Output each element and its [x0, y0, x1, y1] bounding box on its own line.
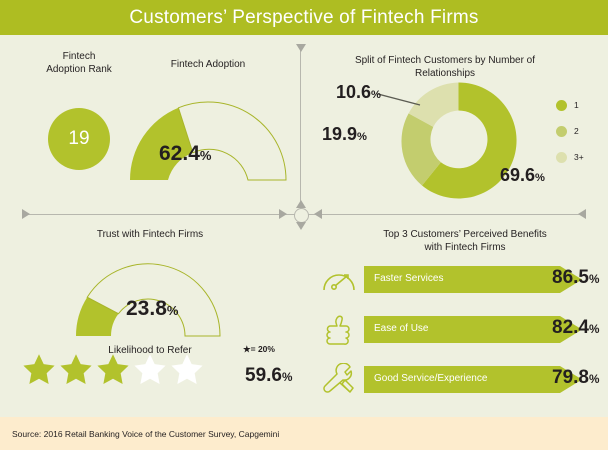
benefit-label-3: Good Service/Experience — [374, 373, 487, 384]
center-arrow-down-icon — [296, 222, 306, 230]
adoption-gauge-track — [178, 102, 286, 180]
donut-label-1: 69.6% — [500, 165, 545, 186]
divider-arrow-right-icon — [578, 209, 586, 219]
star-empty-4-icon — [133, 352, 167, 386]
donut-label-3plus: 10.6% — [336, 82, 381, 103]
benefit-value-3: 79.8% — [552, 367, 599, 389]
divider-arrow-left-icon — [22, 209, 30, 219]
star-legend-note: ★= 20% — [243, 344, 275, 355]
wrench-icon — [320, 363, 360, 397]
center-arrow-left-icon — [279, 209, 287, 219]
donut-label-2: 19.9% — [322, 124, 367, 145]
donut-leader-line — [378, 92, 423, 108]
adoption-heading: Fintech Adoption — [128, 58, 288, 71]
legend-swatch-3-icon — [556, 152, 567, 163]
refer-star-rating — [22, 352, 207, 386]
trust-heading: Trust with Fintech Firms — [70, 228, 230, 241]
infographic-canvas: Customers’ Perspective of Fintech Firms … — [0, 0, 608, 450]
source-note: Source: 2016 Retail Banking Voice of the… — [0, 429, 279, 439]
rank-heading-line1: Fintech — [29, 50, 129, 63]
title-bar: Customers’ Perspective of Fintech Firms — [0, 0, 608, 35]
benefit-label-1: Faster Services — [374, 273, 443, 284]
split-heading-line1: Split of Fintech Customers by Number of — [330, 54, 560, 67]
fintech-adoption-gauge — [128, 80, 288, 185]
donut-legend: 1 2 3+ — [556, 92, 584, 170]
rank-value: 19 — [68, 128, 89, 150]
footer-bar: Source: 2016 Retail Banking Voice of the… — [0, 417, 608, 450]
legend-item-2: 2 — [556, 118, 584, 144]
legend-label-2: 2 — [574, 126, 579, 136]
divider-vertical — [300, 48, 301, 214]
legend-label-1: 1 — [574, 100, 579, 110]
trust-gauge — [68, 248, 228, 340]
star-filled-3-icon — [96, 352, 130, 386]
center-arrow-up-icon — [296, 200, 306, 208]
benefits-heading-line2: with Fintech Firms — [350, 241, 580, 254]
legend-item-3: 3+ — [556, 144, 584, 170]
divider-arrow-top-icon — [296, 44, 306, 52]
divider-center-hub — [294, 208, 309, 223]
legend-label-3: 3+ — [574, 152, 584, 162]
star-filled-1-icon — [22, 352, 56, 386]
adoption-value: 62.4% — [159, 142, 211, 166]
thumbs-up-icon — [320, 313, 360, 347]
legend-swatch-2-icon — [556, 126, 567, 137]
rank-heading-line2: Adoption Rank — [29, 63, 129, 76]
star-filled-2-icon — [59, 352, 93, 386]
legend-swatch-1-icon — [556, 100, 567, 111]
benefit-value-2: 82.4% — [552, 317, 599, 339]
center-arrow-right-icon — [314, 209, 322, 219]
trust-value: 23.8% — [126, 297, 178, 321]
page-title: Customers’ Perspective of Fintech Firms — [129, 7, 478, 29]
benefits-heading-line1: Top 3 Customers’ Perceived Benefits — [350, 228, 580, 241]
fintech-adoption-rank-circle: 19 — [48, 108, 110, 170]
speedometer-icon — [320, 263, 360, 297]
refer-value: 59.6% — [245, 365, 292, 387]
legend-item-1: 1 — [556, 92, 584, 118]
benefit-label-2: Ease of Use — [374, 323, 428, 334]
star-empty-5-icon — [170, 352, 204, 386]
benefit-value-1: 86.5% — [552, 267, 599, 289]
